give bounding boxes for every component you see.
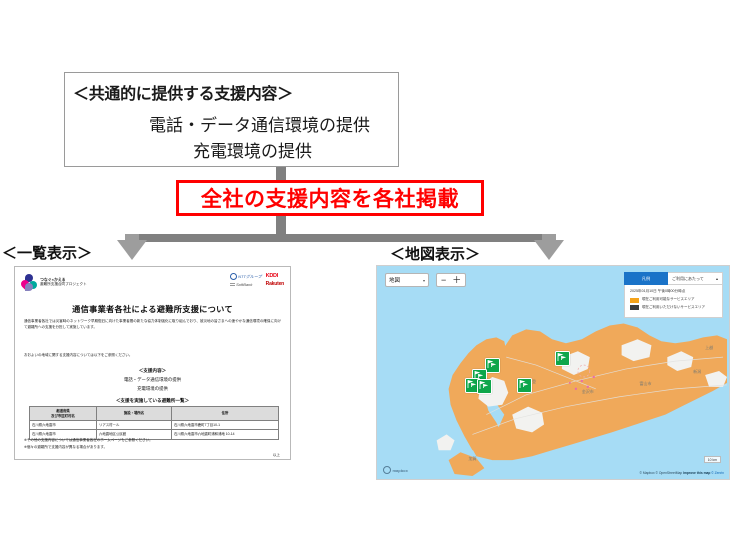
list-view-document[interactable]: つなぐ×かえる 避難所支援合同プロジェクト NTTグループ SoftBank K…: [14, 266, 291, 460]
document-header: つなぐ×かえる 避難所支援合同プロジェクト NTTグループ SoftBank K…: [15, 271, 290, 295]
svg-text:上越: 上越: [705, 345, 713, 350]
document-paragraph-1: 通信事業者各社では災害時のネットワーク早期復旧に向けた事業者間の新たな協力体制強…: [24, 319, 281, 330]
connector-horizontal-bar: [128, 234, 553, 242]
shelter-table: 都道府県 及び市区町村名 施設・場所名 住所 石川県六地震市 リアス村ール 石川…: [29, 406, 279, 440]
table-col-facility: 施設・場所名: [97, 407, 172, 421]
attribution-prefix: © Mapbox © OpenStreetMap: [640, 471, 683, 475]
chevron-down-icon: ▾: [423, 278, 425, 283]
map-legend-panel[interactable]: 凡例 ご利用にあたって ▴ 2025年01月10日 午後0時00分時点 現在ご利…: [624, 272, 723, 318]
attribution-suffix: © Zenrin: [711, 471, 724, 475]
legend-label-available: 現在ご利用可能なサービスエリア: [642, 297, 695, 302]
table-cell-address: 石川県六地震市鹿町7丁目10-1: [172, 421, 279, 430]
document-title: 通信事業者各社による避難所支援について: [15, 303, 290, 315]
tab-usage-notes[interactable]: ご利用にあたって ▴: [668, 272, 723, 285]
highlight-banner-text: 全社の支援内容を各社掲載: [201, 183, 459, 213]
caption-list-view: ＜一覧表示＞: [2, 242, 92, 263]
legend-body: 2025年01月10日 午後0時00分時点 現在ご利用可能なサービスエリア 現在…: [624, 285, 723, 318]
shelter-flag-icon: [466, 379, 476, 389]
table-header-row: 都道府県 及び市区町村名 施設・場所名 住所: [30, 407, 279, 421]
legend-swatch-unavailable: [630, 305, 639, 310]
shelter-flag-icon: [556, 352, 566, 362]
project-logo-line-2: 避難所支援合同プロジェクト: [40, 282, 87, 286]
connector-stem-upper: [276, 167, 286, 181]
highlight-banner: 全社の支援内容を各社掲載: [176, 180, 484, 216]
table-cell-municipality: 石川県六地震市: [30, 421, 97, 430]
common-support-line-2: 充電環境の提供: [65, 137, 394, 162]
map-attribution[interactable]: © Mapbox © OpenStreetMap Improve this ma…: [640, 471, 724, 475]
common-support-title: ＜共通的に提供する支援内容＞: [73, 80, 293, 104]
svg-text:新潟: 新潟: [693, 369, 701, 374]
arrow-down-left-icon: [117, 240, 147, 260]
ntt-group-logo-label: NTTグループ: [238, 274, 262, 280]
map-layer-select-value: 地図: [389, 276, 400, 284]
legend-timestamp: 2025年01月10日 午後0時00分時点: [630, 289, 717, 294]
project-logo-text: つなぐ×かえる 避難所支援合同プロジェクト: [40, 277, 87, 287]
map-view-panel[interactable]: 能登 金沢市 富山市 新潟 加賀 上越 地図 ▾ − ＋: [376, 265, 730, 480]
common-support-box: ＜共通的に提供する支援内容＞ 電話・データ通信環境の提供 充電環境の提供: [64, 72, 399, 167]
common-support-line-1: 電話・データ通信環境の提供: [65, 111, 394, 136]
document-table-heading: ＜支援を実施している避難所一覧＞: [15, 398, 290, 404]
table-col-municipality-line2: 及び市区町村名: [51, 414, 75, 418]
project-logo: つなぐ×かえる 避難所支援合同プロジェクト: [21, 274, 87, 290]
legend-swatch-available: [630, 298, 639, 303]
legend-item: 現在ご利用いただけないサービスエリア: [630, 305, 717, 311]
shelter-flag-icon: [478, 380, 488, 390]
map-zoom-controls[interactable]: − ＋: [436, 273, 466, 287]
ntt-group-logo: NTTグループ: [230, 273, 262, 280]
tab-usage-notes-label: ご利用にあたって: [672, 276, 704, 282]
table-col-address: 住所: [172, 407, 279, 421]
kddi-logo: KDDI: [266, 273, 284, 279]
svg-text:金沢市: 金沢市: [582, 389, 594, 394]
mapbox-logo-label: mapbox: [393, 468, 408, 473]
document-end-mark: 以上: [273, 453, 280, 458]
svg-text:富山市: 富山市: [640, 381, 652, 386]
document-support-line-2: 充電環境の提供: [15, 386, 290, 392]
document-note-2: ※個々の避難所で支援内容が異なる場合があります。: [24, 445, 107, 450]
legend-tabs[interactable]: 凡例 ご利用にあたって ▴: [624, 272, 723, 285]
mapbox-mark-icon: [383, 466, 391, 474]
attribution-improve-link[interactable]: Improve this map: [683, 471, 710, 475]
table-col-municipality: 都道府県 及び市区町村名: [30, 407, 97, 421]
table-col-municipality-line1: 都道府県: [56, 409, 70, 413]
document-support-line-1: 電話・データ通信環境の提供: [15, 377, 290, 383]
map-scale-bar: 10 km: [704, 456, 721, 463]
project-logo-mark-icon: [21, 274, 37, 290]
map-toolbar[interactable]: 地図 ▾ − ＋: [385, 273, 466, 287]
map-marker-shelter[interactable]: [517, 378, 532, 393]
slide-canvas: ＜共通的に提供する支援内容＞ 電話・データ通信環境の提供 充電環境の提供 全社の…: [0, 0, 737, 552]
shelter-flag-icon: [518, 379, 528, 389]
map-marker-shelter[interactable]: [477, 379, 492, 394]
legend-label-unavailable: 現在ご利用いただけないサービスエリア: [642, 305, 705, 310]
mapbox-logo[interactable]: mapbox: [383, 466, 408, 474]
carrier-logos: NTTグループ SoftBank KDDI Rakuten: [230, 273, 284, 287]
document-paragraph-2: おおよいの地域に関する支援内容については以下をご参照ください。: [24, 353, 281, 359]
softbank-logo: SoftBank: [230, 282, 262, 287]
softbank-logo-label: SoftBank: [236, 282, 252, 287]
table-row: 石川県六地震市 リアス村ール 石川県六地震市鹿町7丁目10-1: [30, 421, 279, 430]
document-support-heading: ＜支援内容＞: [15, 368, 290, 374]
tab-legend[interactable]: 凡例: [624, 272, 668, 285]
arrow-down-right-icon: [534, 240, 564, 260]
table-cell-facility: リアス村ール: [97, 421, 172, 430]
map-marker-shelter[interactable]: [485, 358, 500, 373]
rakuten-logo: Rakuten: [266, 281, 284, 287]
document-note-1: ※その他の支援内容については通信事業者各社のホームページもご参照ください。: [24, 438, 153, 443]
caption-map-view: ＜地図表示＞: [390, 243, 480, 264]
map-marker-shelter[interactable]: [555, 351, 570, 366]
zoom-in-button[interactable]: ＋: [452, 275, 461, 285]
map-layer-select[interactable]: 地図 ▾: [385, 273, 429, 287]
table-cell-address: 石川県六地震市六地震町浦和浦地 10-14: [172, 430, 279, 439]
legend-item: 現在ご利用可能なサービスエリア: [630, 297, 717, 303]
shelter-flag-icon: [486, 359, 496, 369]
zoom-out-button[interactable]: −: [441, 275, 446, 285]
svg-text:加賀: 加賀: [468, 456, 476, 461]
chevron-up-icon[interactable]: ▴: [716, 276, 718, 281]
